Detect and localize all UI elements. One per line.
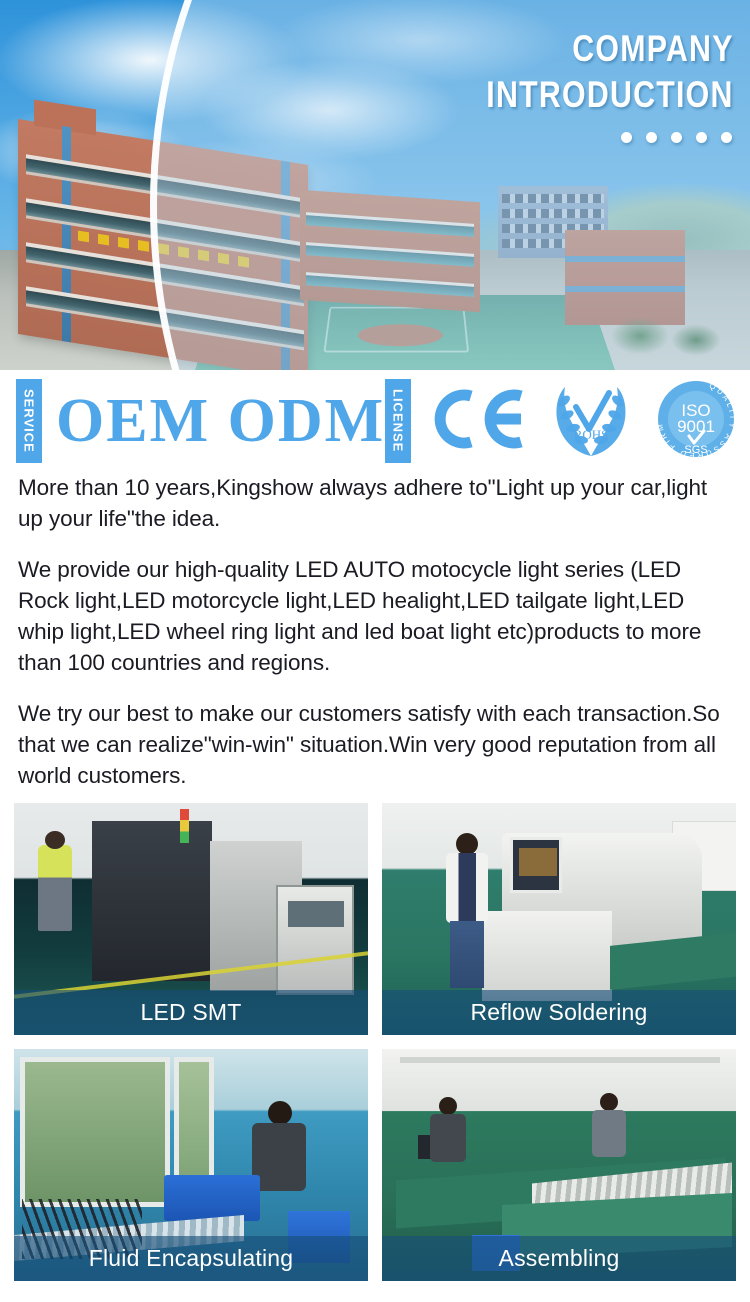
operator-head	[456, 833, 478, 855]
operator-legs	[450, 921, 484, 988]
iso-number: 9001	[677, 417, 715, 436]
company-introduction-page: COMPANY INTRODUCTION SERVICE OEM ODM LIC…	[0, 0, 750, 1302]
dot-icon	[696, 132, 707, 143]
dot-icon	[621, 132, 632, 143]
decorative-dots	[621, 132, 732, 143]
dot-icon	[671, 132, 682, 143]
service-label-text: SERVICE	[22, 389, 37, 453]
operator-head	[439, 1097, 457, 1115]
ce-mark-icon	[433, 386, 529, 457]
license-group: LICENSE	[385, 376, 739, 467]
gallery-item-reflow-soldering[interactable]: Reflow Soldering	[382, 803, 736, 1035]
license-label-text: LICENSE	[391, 389, 406, 452]
status-tower-light	[180, 809, 189, 843]
operator-figure	[252, 1101, 306, 1211]
gallery-caption-text: LED SMT	[140, 1001, 241, 1024]
gallery-caption-text: Assembling	[499, 1247, 620, 1270]
oem-odm-text: OEM ODM	[56, 390, 385, 452]
operator-head	[268, 1101, 292, 1125]
operator-torso	[430, 1114, 466, 1162]
operator-torso	[446, 853, 488, 923]
paragraph-2: We provide our high-quality LED AUTO mot…	[18, 554, 732, 678]
operator-figure	[592, 1093, 626, 1157]
gallery-caption: Fluid Encapsulating	[14, 1236, 368, 1281]
gallery-caption: LED SMT	[14, 990, 368, 1035]
service-label-box: SERVICE	[16, 379, 42, 463]
operator-torso	[592, 1110, 626, 1157]
ceiling-light-tube	[400, 1057, 720, 1063]
introduction-copy: More than 10 years,Kingshow always adher…	[0, 472, 750, 791]
iso-9001-badge-icon: QUALITY ASSURED FIRM ISO 9001 SGS	[653, 376, 739, 467]
control-cabinet	[276, 885, 354, 995]
gallery-caption-text: Reflow Soldering	[470, 1001, 647, 1024]
gallery-item-led-smt[interactable]: LED SMT	[14, 803, 368, 1035]
operator-figure	[444, 833, 490, 988]
title-line-company: COMPANY	[487, 26, 734, 72]
smt-machine	[92, 821, 212, 981]
gallery-item-assembling[interactable]: Assembling	[382, 1049, 736, 1281]
operator-torso	[252, 1123, 306, 1191]
process-gallery: LED SMT Reflow Soldering	[14, 803, 736, 1281]
title-line-introduction: INTRODUCTION	[487, 72, 734, 118]
rohs-badge-icon: ROHS	[545, 377, 637, 466]
dot-icon	[646, 132, 657, 143]
gallery-item-fluid-encapsulating[interactable]: Fluid Encapsulating	[14, 1049, 368, 1281]
certification-badges-row: SERVICE OEM ODM LICENSE	[0, 370, 750, 472]
worker-figure	[38, 845, 72, 931]
gallery-caption: Reflow Soldering	[382, 990, 736, 1035]
machine-monitor	[510, 837, 562, 893]
gallery-caption: Assembling	[382, 1236, 736, 1281]
gallery-caption-text: Fluid Encapsulating	[89, 1247, 294, 1270]
operator-head	[600, 1093, 618, 1111]
iso-auditor: SGS	[685, 444, 708, 456]
dot-icon	[721, 132, 732, 143]
hero-banner: COMPANY INTRODUCTION	[0, 0, 750, 370]
rohs-label: ROHS	[574, 427, 609, 442]
workshop-window	[20, 1057, 170, 1207]
blue-parts-crate	[164, 1175, 260, 1221]
paragraph-3: We try our best to make our customers sa…	[18, 698, 732, 791]
operator-figure	[430, 1097, 466, 1163]
page-title: COMPANY INTRODUCTION	[432, 26, 734, 118]
oven-body	[482, 911, 612, 1001]
paragraph-1: More than 10 years,Kingshow always adher…	[18, 472, 732, 534]
license-label-box: LICENSE	[385, 379, 411, 463]
